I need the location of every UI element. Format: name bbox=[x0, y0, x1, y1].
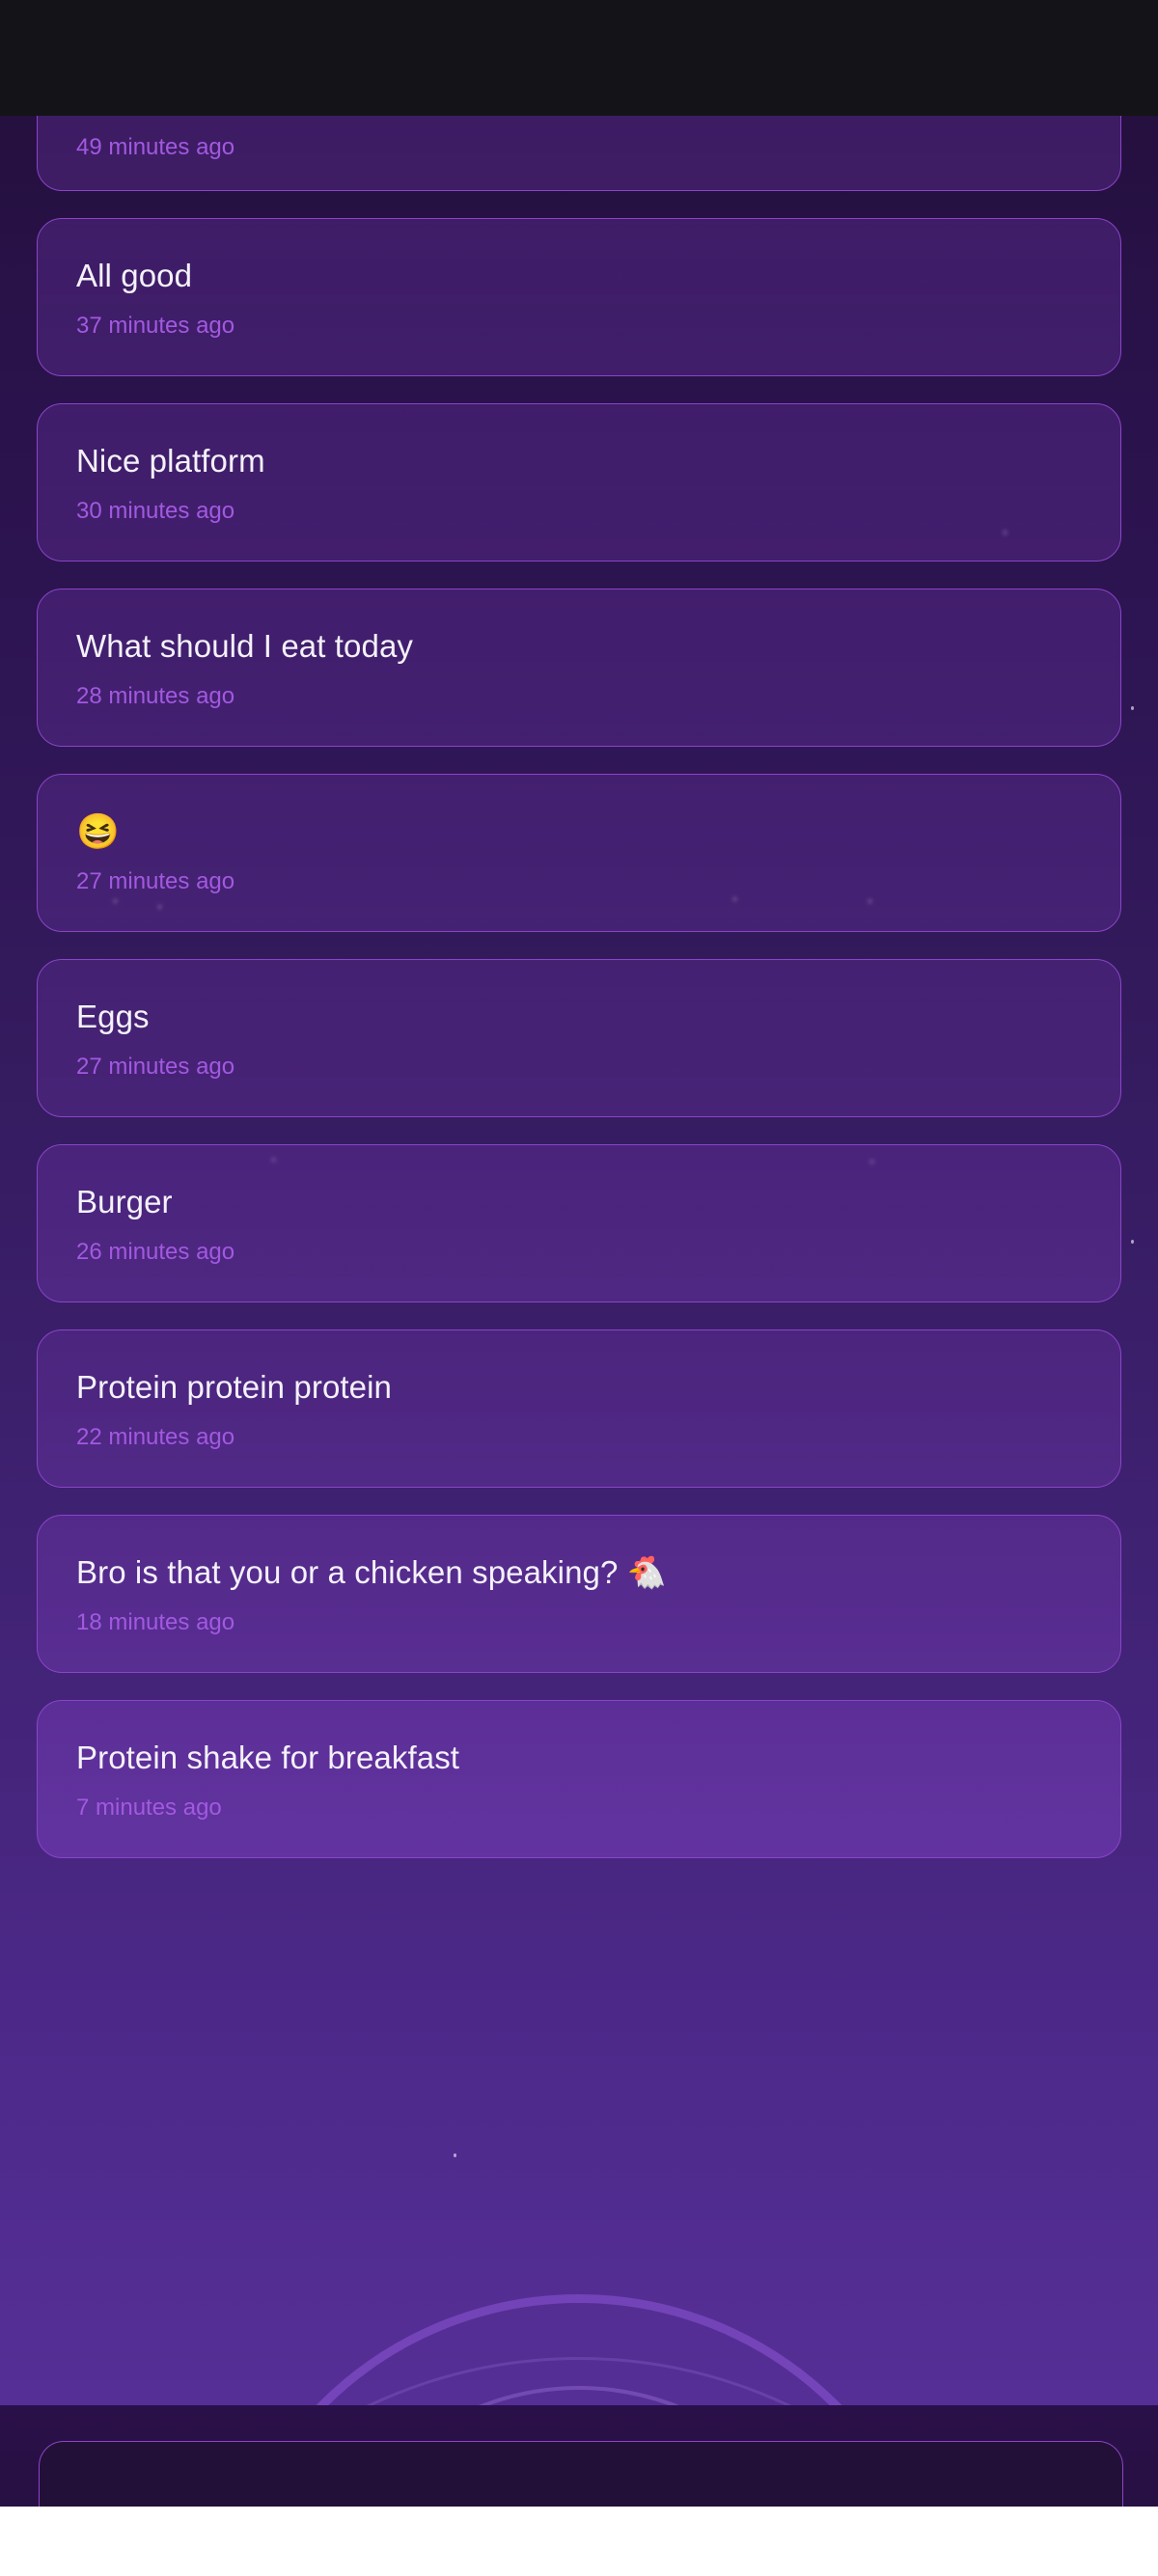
message-card[interactable]: 49 minutes ago bbox=[37, 116, 1121, 191]
message-text: Burger bbox=[76, 1185, 1082, 1219]
lower-section bbox=[0, 2405, 1158, 2507]
message-text: What should I eat today bbox=[76, 629, 1082, 664]
decorative-arcs bbox=[0, 2116, 1158, 2405]
arc-outer bbox=[87, 2357, 1071, 2405]
message-timestamp: 22 minutes ago bbox=[76, 1426, 1082, 1449]
message-card[interactable]: 😆27 minutes ago bbox=[37, 774, 1121, 932]
message-text: All good bbox=[76, 259, 1082, 293]
message-card[interactable]: Nice platform30 minutes ago bbox=[37, 403, 1121, 562]
message-text: Protein shake for breakfast bbox=[76, 1740, 1082, 1775]
bottom-white-area bbox=[0, 2507, 1158, 2576]
message-text: Nice platform bbox=[76, 444, 1082, 479]
message-emoji: 😆 bbox=[76, 814, 1082, 849]
arc-main bbox=[212, 2294, 946, 2405]
list-item-partial[interactable] bbox=[39, 2441, 1123, 2507]
message-timestamp: 49 minutes ago bbox=[76, 136, 1082, 159]
message-timestamp: 27 minutes ago bbox=[76, 1055, 1082, 1079]
message-card[interactable]: Protein shake for breakfast7 minutes ago bbox=[37, 1700, 1121, 1858]
top-chrome-bar bbox=[0, 0, 1158, 116]
message-card[interactable]: Bro is that you or a chicken speaking? 🐔… bbox=[37, 1515, 1121, 1673]
message-card[interactable]: All good37 minutes ago bbox=[37, 218, 1121, 376]
message-card[interactable]: Protein protein protein22 minutes ago bbox=[37, 1329, 1121, 1488]
arc-inner bbox=[309, 2386, 849, 2405]
message-timestamp: 30 minutes ago bbox=[76, 500, 1082, 523]
message-list: 49 minutes agoAll good37 minutes agoNice… bbox=[0, 116, 1158, 1858]
message-text: Eggs bbox=[76, 1000, 1082, 1034]
app-screen: 49 minutes agoAll good37 minutes agoNice… bbox=[0, 0, 1158, 2576]
message-timestamp: 37 minutes ago bbox=[76, 315, 1082, 338]
message-card[interactable]: Burger26 minutes ago bbox=[37, 1144, 1121, 1302]
message-timestamp: 27 minutes ago bbox=[76, 870, 1082, 893]
message-timestamp: 26 minutes ago bbox=[76, 1241, 1082, 1264]
message-timestamp: 28 minutes ago bbox=[76, 685, 1082, 708]
message-card[interactable]: What should I eat today28 minutes ago bbox=[37, 589, 1121, 747]
message-text: Protein protein protein bbox=[76, 1370, 1082, 1405]
feed-page: 49 minutes agoAll good37 minutes agoNice… bbox=[0, 116, 1158, 2405]
message-timestamp: 7 minutes ago bbox=[76, 1796, 1082, 1820]
star-dot bbox=[454, 2153, 456, 2157]
message-card[interactable]: Eggs27 minutes ago bbox=[37, 959, 1121, 1117]
message-text: Bro is that you or a chicken speaking? 🐔 bbox=[76, 1555, 1082, 1590]
message-timestamp: 18 minutes ago bbox=[76, 1611, 1082, 1634]
